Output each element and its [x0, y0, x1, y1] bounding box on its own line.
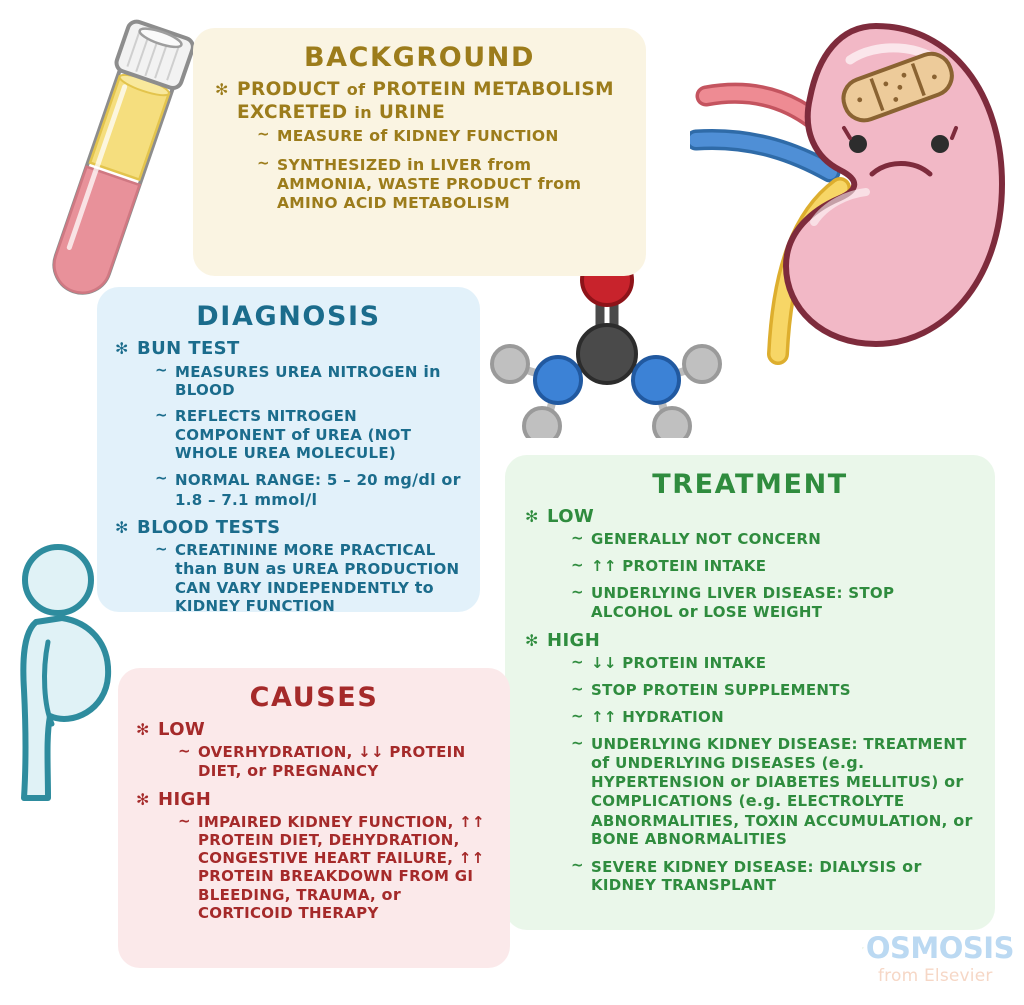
tilde-bullet-icon: ~: [155, 406, 168, 424]
diagnosis-subitem-0-2-text: NORMAL RANGE: 5 – 20 mg/dL or 1.8 – 7.1 …: [175, 471, 461, 508]
treatment-subitem-0-0: ~ GENERALLY NOT CONCERN: [567, 530, 975, 548]
treatment-subitem-1-3-text: UNDERLYING KIDNEY DISEASE: TREATMENT of …: [591, 735, 973, 848]
tilde-bullet-icon: ~: [178, 742, 191, 760]
treatment-title: TREATMENT: [525, 469, 975, 500]
diagnosis-subitem-0-1-text: REFLECTS NITROGEN COMPONENT of UREA (NOT…: [175, 407, 411, 462]
tilde-bullet-icon: ~: [571, 556, 584, 574]
tilde-bullet-icon: ~: [155, 469, 168, 487]
tilde-bullet-icon: ~: [257, 154, 270, 172]
treatment-subitem-1-1: ~ STOP PROTEIN SUPPLEMENTS: [567, 681, 975, 699]
asterisk-bullet-icon: ✻: [525, 507, 539, 527]
causes-list: ✻ LOW ~ OVERHYDRATION, ↓↓ PROTEIN DIET, …: [136, 719, 492, 922]
tilde-bullet-icon: ~: [571, 529, 584, 547]
treatment-subitem-0-1-text: ↑↑ PROTEIN INTAKE: [591, 557, 766, 575]
panel-background: BACKGROUND ✻ PRODUCT of PROTEIN METABOLI…: [193, 28, 646, 276]
osmosis-brand-text: OSMOSIS: [866, 934, 1014, 963]
causes-subitem-0-0-text: OVERHYDRATION, ↓↓ PROTEIN DIET, or PREGN…: [198, 743, 465, 780]
causes-title: CAUSES: [136, 682, 492, 713]
causes-item-1-text: HIGH: [158, 789, 211, 810]
causes-subitem-1-0: ~ IMPAIRED KIDNEY FUNCTION, ↑↑ PROTEIN D…: [174, 813, 492, 922]
asterisk-bullet-icon: ✻: [136, 720, 150, 740]
treatment-subitem-0-2: ~ UNDERLYING LIVER DISEASE: STOP ALCOHOL…: [567, 584, 975, 621]
causes-subitem-1-0-text: IMPAIRED KIDNEY FUNCTION, ↑↑ PROTEIN DIE…: [198, 813, 485, 922]
treatment-subitem-1-4-text: SEVERE KIDNEY DISEASE: DIALYSIS or KIDNE…: [591, 858, 922, 894]
tilde-bullet-icon: ~: [571, 707, 584, 725]
panel-diagnosis: DIAGNOSIS ✻ BUN TEST ~ MEASURES UREA NIT…: [97, 287, 480, 612]
background-list: ✻ PRODUCT of PROTEIN METABOLISM EXCRETED…: [215, 79, 624, 213]
background-subitem-0-0: ~ MEASURE of KIDNEY FUNCTION: [253, 126, 624, 146]
panel-causes: CAUSES ✻ LOW ~ OVERHYDRATION, ↓↓ PROTEIN…: [118, 668, 510, 968]
diagnosis-item-1: ✻ BLOOD TESTS ~ CREATININE MORE PRACTICA…: [115, 517, 462, 615]
panel-treatment: TREATMENT ✻ LOW ~ GENERALLY NOT CONCERN …: [505, 455, 995, 930]
background-item-0-text: PRODUCT of PROTEIN METABOLISM EXCRETED i…: [237, 79, 614, 123]
diagnosis-item-0-text: BUN TEST: [137, 338, 240, 359]
diagnosis-list: ✻ BUN TEST ~ MEASURES UREA NITROGEN in B…: [115, 338, 462, 615]
background-subitem-0-1-text: SYNTHESIZED in LIVER from AMMONIA, WASTE…: [277, 156, 581, 212]
causes-item-0-text: LOW: [158, 719, 205, 740]
osmosis-mark-icon: [862, 930, 864, 966]
background-subitem-0-0-text: MEASURE of KIDNEY FUNCTION: [277, 127, 559, 145]
treatment-subitem-1-2-text: ↑↑ HYDRATION: [591, 708, 724, 726]
treatment-subitem-0-1: ~ ↑↑ PROTEIN INTAKE: [567, 557, 975, 575]
diagnosis-title: DIAGNOSIS: [115, 301, 462, 332]
causes-item-0: ✻ LOW ~ OVERHYDRATION, ↓↓ PROTEIN DIET, …: [136, 719, 492, 780]
diagnosis-subitem-0-2: ~ NORMAL RANGE: 5 – 20 mg/dL or 1.8 – 7.…: [151, 470, 462, 508]
diagnosis-subitem-0-1: ~ REFLECTS NITROGEN COMPONENT of UREA (N…: [151, 407, 462, 462]
treatment-subitem-1-4: ~ SEVERE KIDNEY DISEASE: DIALYSIS or KID…: [567, 857, 975, 894]
asterisk-bullet-icon: ✻: [136, 790, 150, 810]
tilde-bullet-icon: ~: [178, 812, 191, 830]
diagnosis-sublist-0: ~ MEASURES UREA NITROGEN in BLOOD ~ REFL…: [151, 362, 462, 509]
treatment-item-0-text: LOW: [547, 506, 594, 527]
diagnosis-subitem-0-0: ~ MEASURES UREA NITROGEN in BLOOD: [151, 362, 462, 399]
sad-kidney-illustration: [690, 8, 1010, 408]
causes-sublist-0: ~ OVERHYDRATION, ↓↓ PROTEIN DIET, or PRE…: [174, 743, 492, 780]
treatment-subitem-1-0-text: ↓↓ PROTEIN INTAKE: [591, 654, 766, 672]
treatment-subitem-0-2-text: UNDERLYING LIVER DISEASE: STOP ALCOHOL o…: [591, 584, 894, 621]
tilde-bullet-icon: ~: [571, 583, 584, 601]
diagnosis-subitem-0-0-text: MEASURES UREA NITROGEN in BLOOD: [175, 363, 441, 399]
treatment-subitem-1-2: ~ ↑↑ HYDRATION: [567, 708, 975, 726]
urea-molecule-illustration: [486, 248, 726, 438]
tilde-bullet-icon: ~: [155, 361, 168, 379]
diagnosis-item-1-text: BLOOD TESTS: [137, 517, 281, 538]
diagnosis-item-0: ✻ BUN TEST ~ MEASURES UREA NITROGEN in B…: [115, 338, 462, 509]
tilde-bullet-icon: ~: [571, 856, 584, 874]
diagnosis-sublist-1: ~ CREATININE MORE PRACTICAL than BUN as …: [151, 541, 462, 615]
causes-sublist-1: ~ IMPAIRED KIDNEY FUNCTION, ↑↑ PROTEIN D…: [174, 813, 492, 922]
asterisk-bullet-icon: ✻: [115, 339, 129, 359]
tilde-bullet-icon: ~: [155, 540, 168, 558]
treatment-subitem-1-1-text: STOP PROTEIN SUPPLEMENTS: [591, 681, 851, 699]
diagnosis-subitem-1-0-text: CREATININE MORE PRACTICAL than BUN as UR…: [175, 541, 459, 615]
background-title: BACKGROUND: [215, 42, 624, 73]
background-item-0: ✻ PRODUCT of PROTEIN METABOLISM EXCRETED…: [215, 79, 624, 213]
osmosis-tagline: from Elsevier: [878, 968, 1014, 985]
treatment-item-1-text: HIGH: [547, 630, 600, 651]
tilde-bullet-icon: ~: [571, 680, 584, 698]
osmosis-logo: OSMOSIS from Elsevier: [862, 930, 1014, 996]
tilde-bullet-icon: ~: [571, 653, 584, 671]
asterisk-bullet-icon: ✻: [115, 518, 129, 538]
asterisk-bullet-icon: ✻: [525, 631, 539, 651]
tilde-bullet-icon: ~: [571, 734, 584, 752]
treatment-subitem-0-0-text: GENERALLY NOT CONCERN: [591, 530, 821, 548]
causes-item-1: ✻ HIGH ~ IMPAIRED KIDNEY FUNCTION, ↑↑ PR…: [136, 789, 492, 922]
causes-subitem-0-0: ~ OVERHYDRATION, ↓↓ PROTEIN DIET, or PRE…: [174, 743, 492, 780]
treatment-subitem-1-0: ~ ↓↓ PROTEIN INTAKE: [567, 654, 975, 672]
diagnosis-subitem-1-0: ~ CREATININE MORE PRACTICAL than BUN as …: [151, 541, 462, 615]
background-sublist-0: ~ MEASURE of KIDNEY FUNCTION ~ SYNTHESIZ…: [253, 126, 624, 212]
treatment-list: ✻ LOW ~ GENERALLY NOT CONCERN ~ ↑↑ PROTE…: [525, 506, 975, 894]
treatment-sublist-0: ~ GENERALLY NOT CONCERN ~ ↑↑ PROTEIN INT…: [567, 530, 975, 621]
treatment-subitem-1-3: ~ UNDERLYING KIDNEY DISEASE: TREATMENT o…: [567, 735, 975, 848]
background-subitem-0-1: ~ SYNTHESIZED in LIVER from AMMONIA, WAS…: [253, 155, 624, 213]
treatment-item-1: ✻ HIGH ~ ↓↓ PROTEIN INTAKE ~ STOP PROTEI…: [525, 630, 975, 894]
infographic-canvas: BACKGROUND ✻ PRODUCT of PROTEIN METABOLI…: [0, 0, 1024, 1005]
treatment-item-0: ✻ LOW ~ GENERALLY NOT CONCERN ~ ↑↑ PROTE…: [525, 506, 975, 621]
treatment-sublist-1: ~ ↓↓ PROTEIN INTAKE ~ STOP PROTEIN SUPPL…: [567, 654, 975, 894]
asterisk-bullet-icon: ✻: [215, 80, 229, 100]
tilde-bullet-icon: ~: [257, 125, 270, 143]
